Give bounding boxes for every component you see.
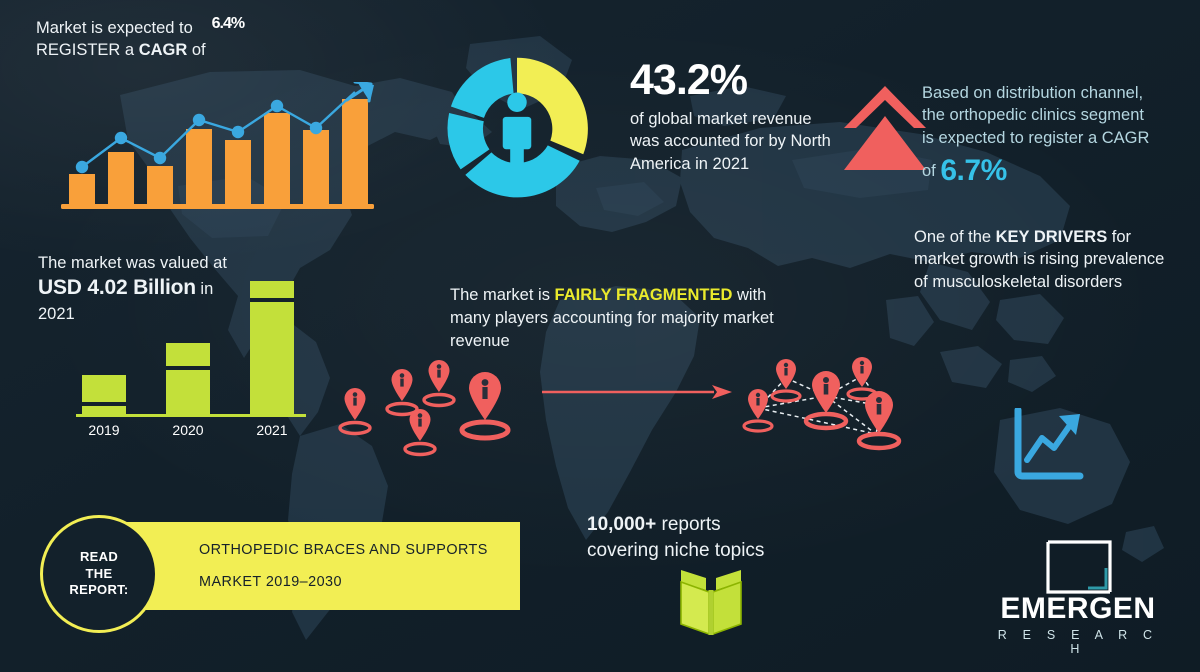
line-chart-arrow-icon [1012, 408, 1086, 482]
pin-3 [424, 360, 454, 406]
person-icon [503, 93, 532, 171]
donut-segment-4 [451, 58, 514, 118]
badge-line3: REPORT: [69, 582, 128, 599]
chart-baseline [61, 204, 374, 209]
distribution-channel-callout: Based on distribution channel, the ortho… [922, 82, 1184, 191]
open-book-icon [676, 562, 746, 638]
connected-location-pins [736, 350, 916, 462]
distribution-line2: the orthopedic clinics segment [922, 104, 1184, 126]
bar-2020 [166, 343, 210, 414]
green-chart-baseline [76, 414, 306, 417]
pin-2 [387, 369, 417, 415]
pin-b [848, 357, 876, 399]
fragmented-emphasis: FAIRLY FRAGMENTED [555, 286, 733, 304]
reports-line2: covering niche topics [587, 538, 817, 564]
market-value-bar-chart: 2019 2020 2021 [66, 272, 316, 444]
green-chart-label-2020: 2020 [172, 422, 203, 438]
square-bracket-mark-icon [1044, 538, 1114, 596]
bar-2021 [250, 281, 294, 414]
north-america-donut-chart [436, 48, 598, 210]
reports-suffix: reports [656, 514, 720, 535]
read-report-ribbon[interactable]: ORTHOPEDIC BRACES AND SUPPORTS MARKET 20… [122, 522, 520, 610]
donut-description: of global market revenue was accounted f… [630, 108, 845, 175]
pin-4 [405, 409, 435, 455]
donut-value: 43.2% [630, 58, 845, 103]
green-chart-label-2019: 2019 [88, 422, 119, 438]
cagr-callout: Market is expected to REGISTER a CAGR of… [36, 14, 386, 62]
logo-subtitle: R E S E A R C H [988, 628, 1168, 656]
cagr-keyword: CAGR [139, 41, 188, 59]
double-up-arrow-icon [842, 84, 928, 176]
reports-callout: 10,000+ reports covering niche topics [587, 512, 817, 563]
key-drivers-pre: One of the [914, 228, 996, 246]
fragmented-callout: The market is FAIRLY FRAGMENTED with man… [450, 284, 810, 352]
read-report-badge[interactable]: READ THE REPORT: [40, 515, 158, 633]
cagr-text: Market is expected to REGISTER a CAGR of [36, 14, 206, 62]
growth-bar-line-chart [55, 82, 385, 212]
distribution-value: 6.7% [940, 154, 1006, 187]
chart-bars [69, 99, 368, 204]
pin-a [772, 359, 800, 401]
scattered-location-pins [332, 352, 532, 457]
fragmented-pre: The market is [450, 286, 555, 304]
logo-name: EMERGEN [988, 592, 1168, 626]
cagr-line2: REGISTER a CAGR of [36, 40, 206, 62]
badge-line1: READ [69, 549, 128, 566]
badge-line2: THE [69, 566, 128, 583]
emergen-research-logo[interactable]: EMERGEN R E S E A R C H [988, 538, 1168, 643]
right-arrow [540, 381, 736, 403]
cagr-value: 6.4% [212, 14, 244, 34]
pin-5-large [462, 372, 508, 438]
green-chart-label-2021: 2021 [256, 422, 287, 438]
report-title-line1: ORTHOPEDIC BRACES AND SUPPORTS [199, 542, 488, 558]
bar-2019 [82, 375, 126, 414]
cagr-line1: Market is expected to [36, 18, 206, 40]
pin-1 [340, 388, 370, 434]
key-drivers-callout: One of the KEY DRIVERS for market growth… [914, 226, 1182, 293]
reports-count: 10,000+ [587, 514, 656, 535]
infographic-canvas: Market is expected to REGISTER a CAGR of… [0, 0, 1200, 672]
key-drivers-emphasis: KEY DRIVERS [996, 228, 1108, 246]
distribution-line3: is expected to register a CAGR [922, 127, 1184, 149]
distribution-line1: Based on distribution channel, [922, 82, 1184, 104]
distribution-of-label: of [922, 162, 936, 180]
report-title-line2: MARKET 2019–2030 [199, 574, 342, 590]
donut-callout: 43.2% of global market revenue was accou… [630, 58, 845, 175]
